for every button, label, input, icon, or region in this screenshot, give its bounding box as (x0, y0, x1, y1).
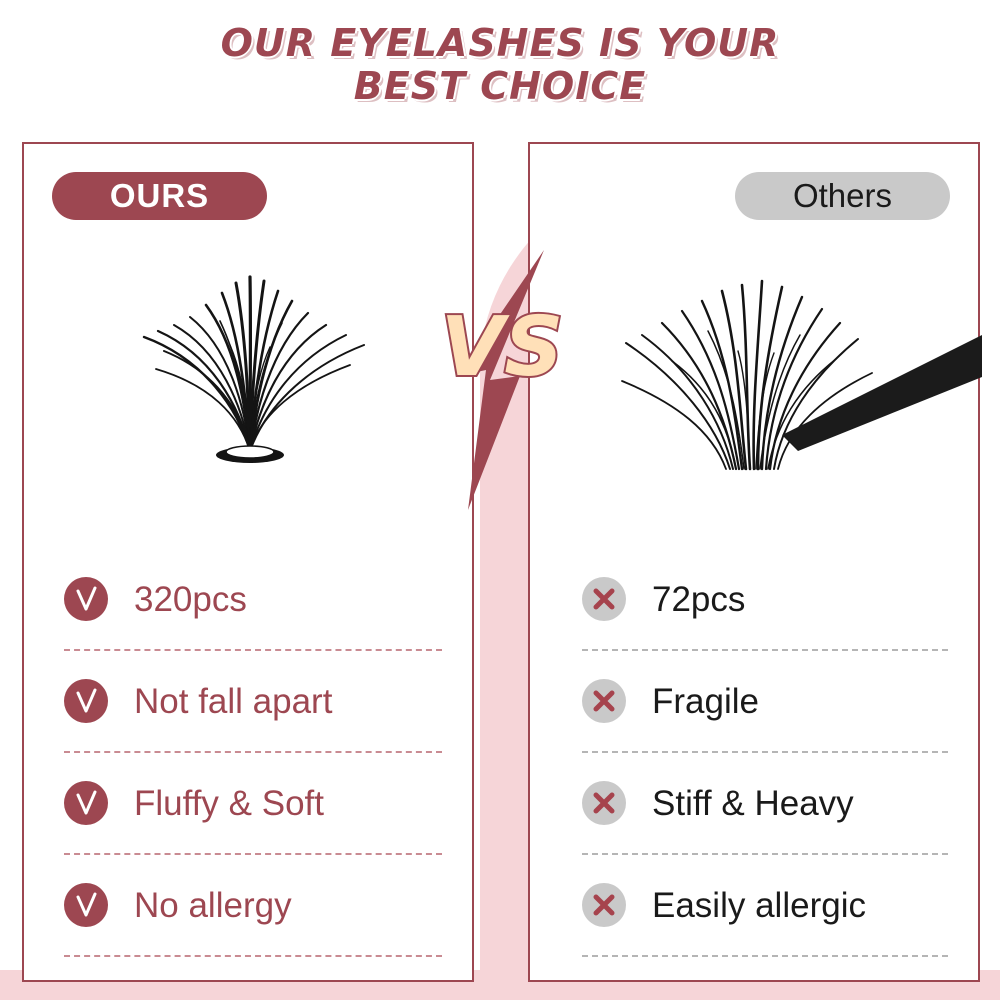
check-icon (64, 883, 108, 927)
feature-label: Fluffy & Soft (134, 786, 324, 821)
feature-row: Not fall apart (64, 651, 442, 753)
feature-label: 72pcs (652, 582, 745, 617)
vs-graphic: VS (424, 250, 584, 510)
features-ours: 320pcs Not fall apart Fluffy & Soft No a… (64, 549, 442, 957)
others-lash-image (530, 239, 978, 569)
page-title-line-2: BEST CHOICE (0, 65, 1000, 108)
badge-ours: OURS (52, 172, 267, 220)
feature-label: 320pcs (134, 582, 247, 617)
ours-lash-svg (24, 239, 476, 469)
features-others: 72pcs Fragile Stiff & Heavy Easily aller… (582, 549, 948, 957)
cross-icon (582, 577, 626, 621)
cross-icon (582, 781, 626, 825)
ours-lash-image (24, 239, 472, 569)
feature-row: Fragile (582, 651, 948, 753)
cross-icon (582, 679, 626, 723)
feature-label: Not fall apart (134, 684, 332, 719)
page-title-line-1: OUR EYELASHES IS YOUR (0, 22, 1000, 65)
feature-row: 72pcs (582, 549, 948, 651)
feature-label: Stiff & Heavy (652, 786, 854, 821)
vs-label: VS (441, 300, 564, 395)
feature-row: Stiff & Heavy (582, 753, 948, 855)
badge-others: Others (735, 172, 950, 220)
panel-others: Others (528, 142, 980, 982)
check-icon (64, 781, 108, 825)
feature-row: Easily allergic (582, 855, 948, 957)
feature-row: 320pcs (64, 549, 442, 651)
feature-row: No allergy (64, 855, 442, 957)
check-icon (64, 577, 108, 621)
feature-label: Fragile (652, 684, 759, 719)
cross-icon (582, 883, 626, 927)
others-lash-svg (530, 239, 982, 489)
feature-row: Fluffy & Soft (64, 753, 442, 855)
panel-ours: OURS (22, 142, 474, 982)
check-icon (64, 679, 108, 723)
feature-label: No allergy (134, 888, 292, 923)
page-title: OUR EYELASHES IS YOUR BEST CHOICE (0, 22, 1000, 107)
comparison-infographic: OUR EYELASHES IS YOUR BEST CHOICE OURS (0, 0, 1000, 1000)
feature-label: Easily allergic (652, 888, 866, 923)
vs-svg: VS (424, 250, 584, 510)
